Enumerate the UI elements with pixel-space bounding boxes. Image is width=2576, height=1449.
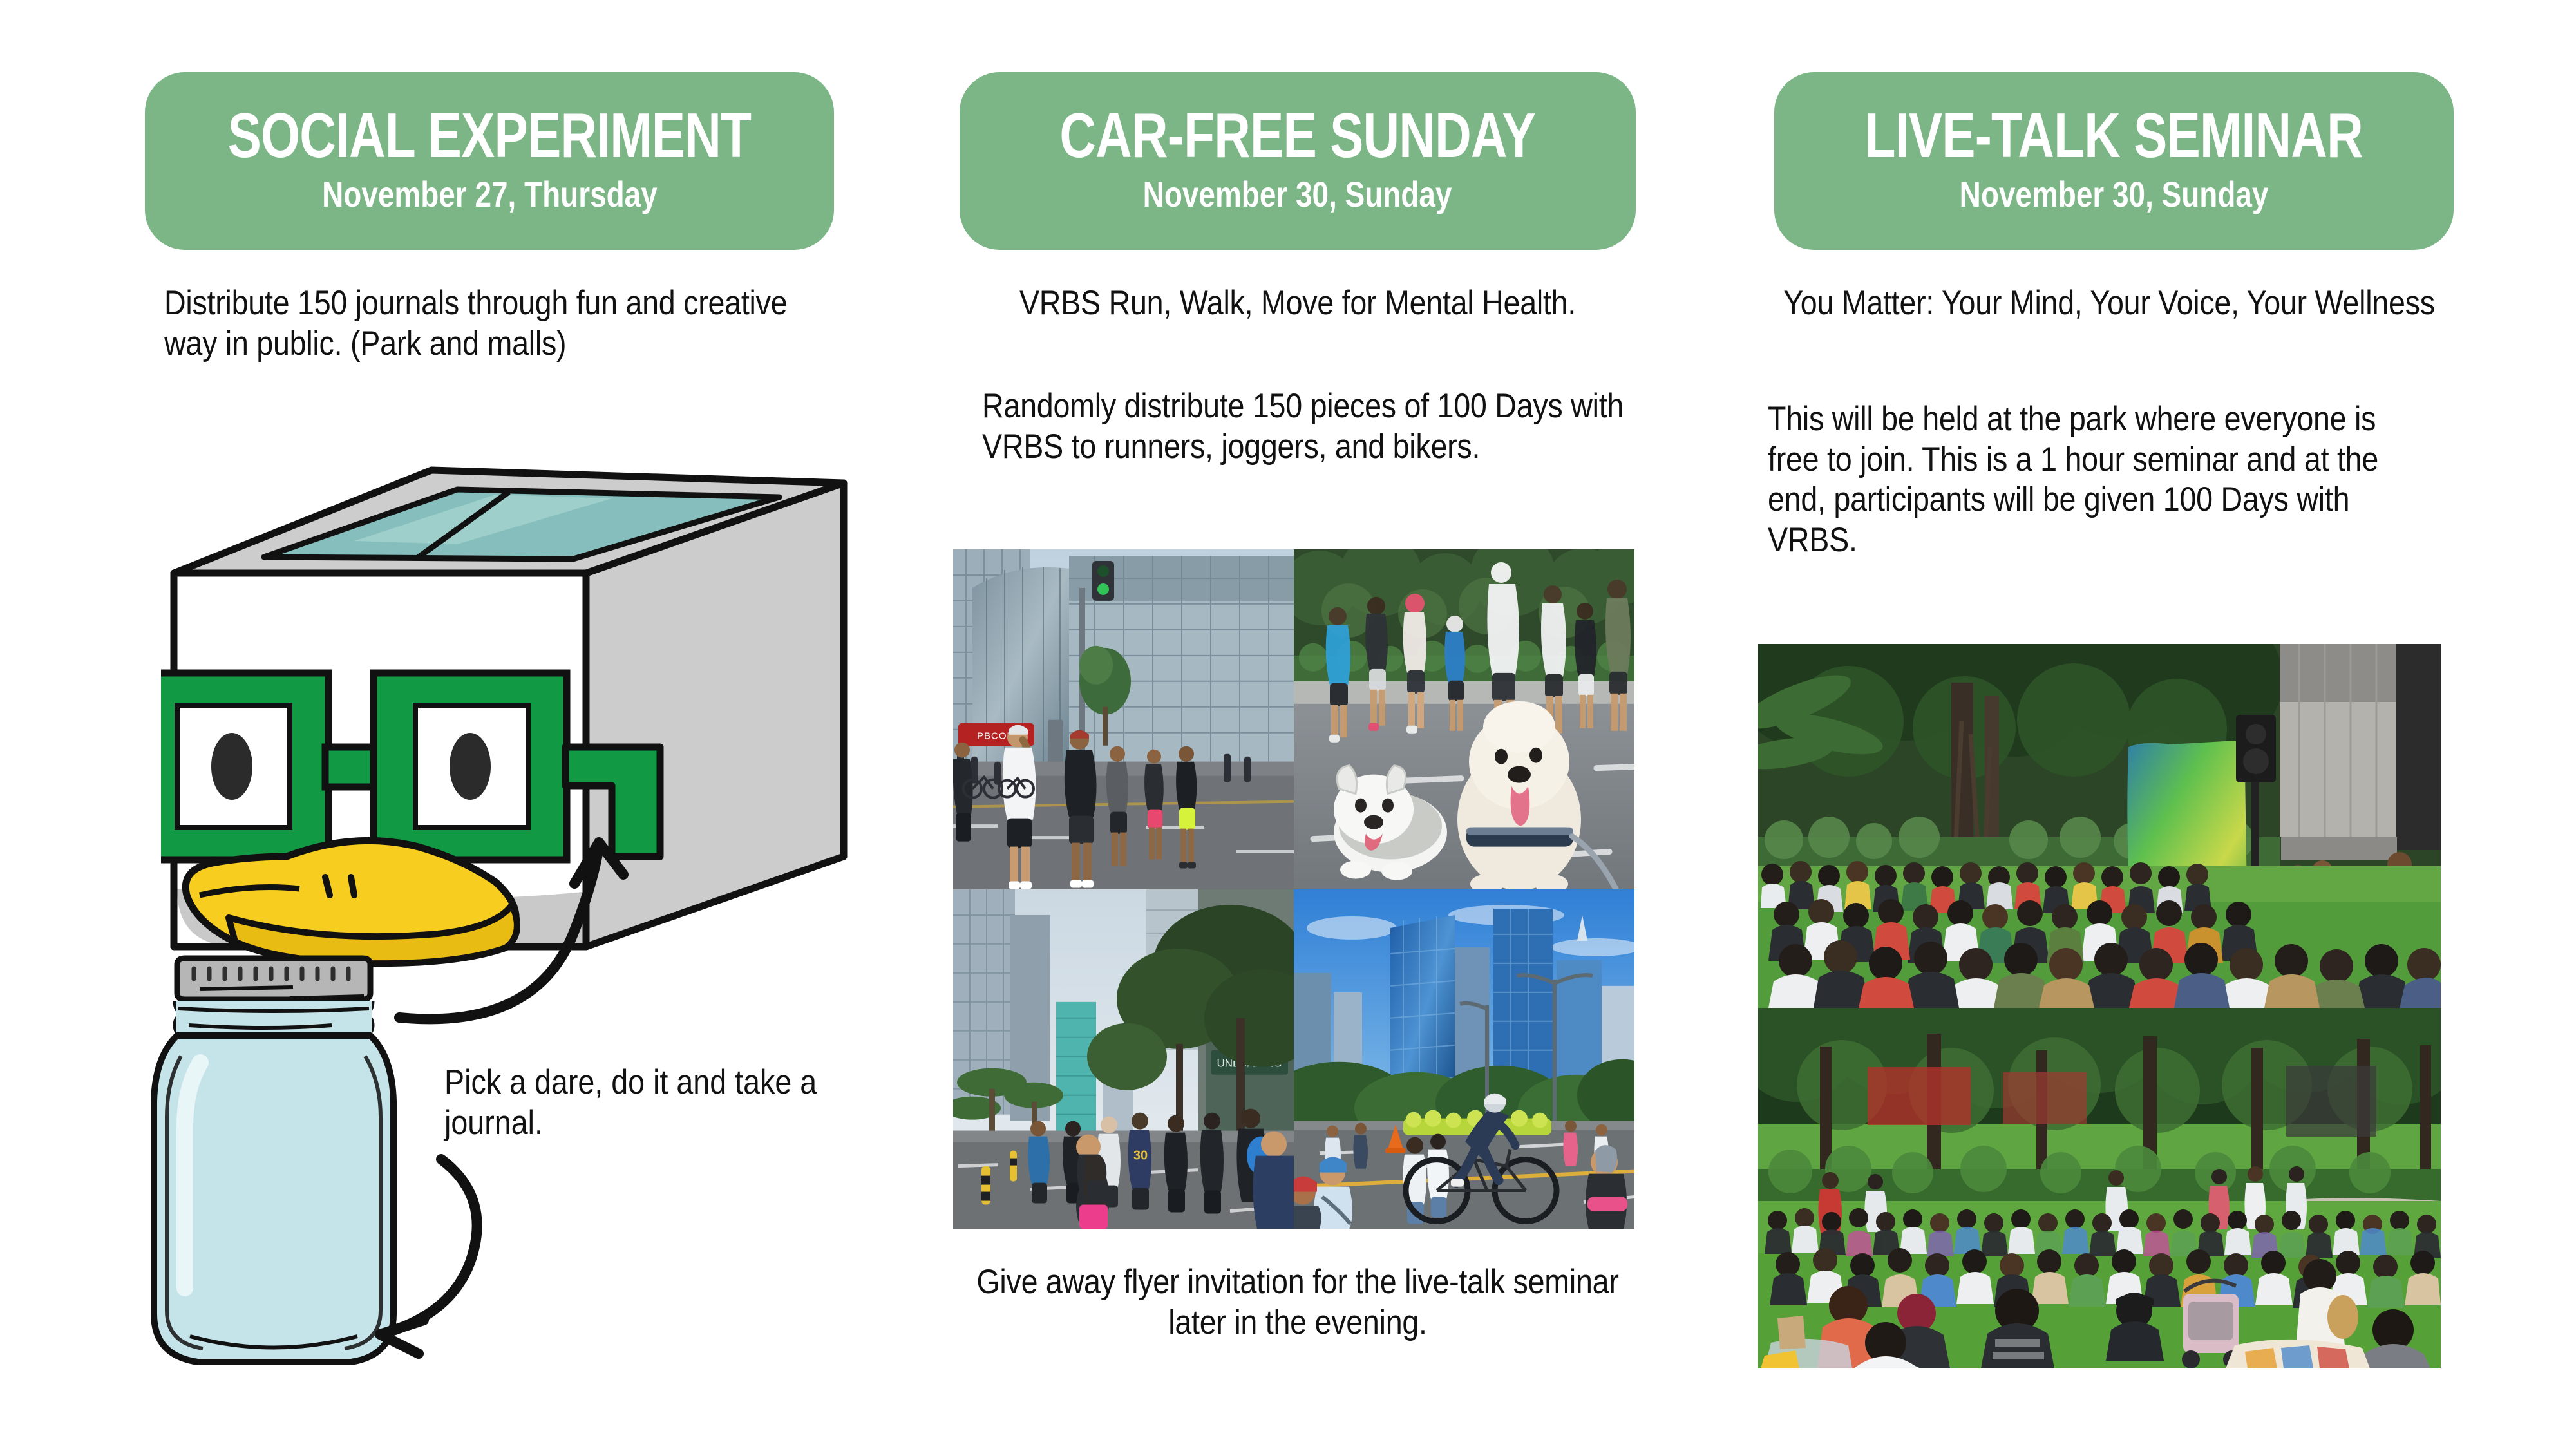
photo-park-crowd-seated-on-grass (1758, 1008, 2441, 1368)
body-text-distribution-plan: Randomly distribute 150 pieces of 100 Da… (982, 386, 1628, 467)
header-date: November 30, Sunday (1143, 176, 1452, 214)
photo-cyclist-car-free-avenue (1294, 889, 1634, 1229)
column-live-talk-seminar: LIVE-TALK SEMINAR November 30, Sunday Yo… (1726, 0, 2499, 1449)
header-title: SOCIAL EXPERIMENT (228, 104, 752, 167)
illustration-note-pick-a-dare: Pick a dare, do it and take a journal. (444, 1063, 829, 1143)
header-title: CAR-FREE SUNDAY (1060, 104, 1536, 167)
column-car-free-sunday: CAR-FREE SUNDAY November 30, Sunday VRBS… (921, 0, 1681, 1449)
body-text-distribute-journals: Distribute 150 journals through fun and … (164, 283, 799, 364)
photo-park-crowd-facing-stage (1758, 644, 2441, 1008)
photo-runners-pbcom-tower: PBCOM (953, 549, 1294, 889)
photo-blurred-runners-on-road (1294, 549, 1634, 889)
header-date: November 30, Sunday (1960, 176, 2269, 214)
svg-text:30: 30 (1133, 1148, 1148, 1162)
caption-flyer-giveaway: Give away flyer invitation for the live-… (966, 1262, 1629, 1343)
mason-jar-illustration (138, 953, 409, 1378)
header-pill-car-free-sunday: CAR-FREE SUNDAY November 30, Sunday (960, 72, 1636, 250)
poster-board: SOCIAL EXPERIMENT November 27, Thursday … (0, 0, 2576, 1449)
body-text-event-name: VRBS Run, Walk, Move for Mental Health. (966, 283, 1629, 324)
header-date: November 27, Thursday (322, 176, 658, 214)
body-text-seminar-theme: You Matter: Your Mind, Your Voice, Your … (1772, 283, 2446, 324)
header-pill-live-talk-seminar: LIVE-TALK SEMINAR November 30, Sunday (1774, 72, 2454, 250)
header-pill-social-experiment: SOCIAL EXPERIMENT November 27, Thursday (145, 72, 834, 250)
photo-grid-car-free-sunday: PBCOM (953, 549, 1634, 1229)
header-title: LIVE-TALK SEMINAR (1865, 104, 2363, 167)
photo-walkers-tree-lined-avenue: UNLOADING (953, 889, 1294, 1229)
column-social-experiment: SOCIAL EXPERIMENT November 27, Thursday … (103, 0, 876, 1449)
body-text-seminar-details: This will be held at the park where ever… (1768, 399, 2420, 560)
